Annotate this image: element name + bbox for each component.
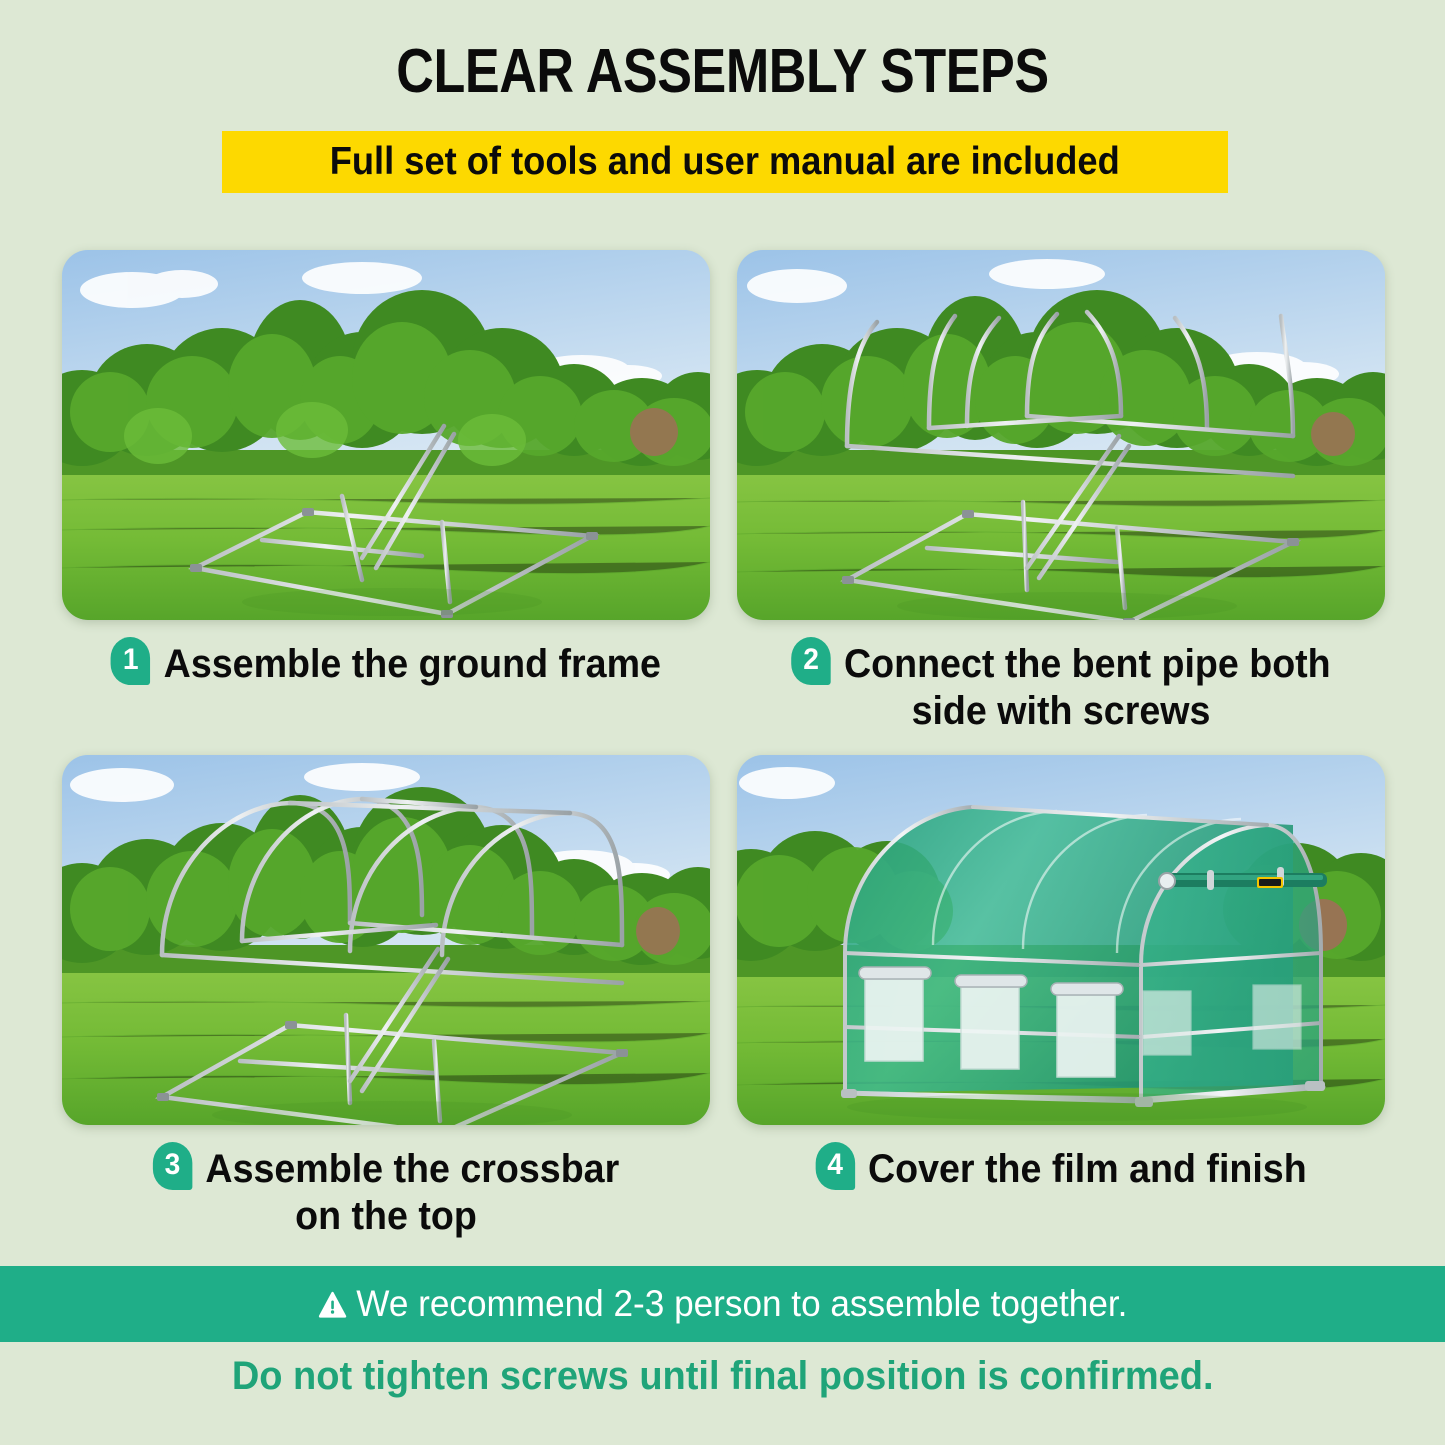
recommendation-text: We recommend 2-3 person to assemble toge… [356, 1283, 1127, 1324]
step-2-label-line1: Connect the bent pipe both [844, 642, 1331, 686]
step-3-label-line2: on the top [81, 1193, 690, 1240]
step-badge-4: 4 [815, 1142, 854, 1190]
subtitle-banner: Full set of tools and user manual are in… [222, 131, 1228, 193]
step-3-caption: 3Assemble the crossbar on the top [62, 1144, 710, 1240]
footer-note: Do not tighten screws until final positi… [0, 1352, 1445, 1400]
vevor-logo-label [1257, 877, 1283, 888]
subtitle-text: Full set of tools and user manual are in… [330, 140, 1120, 184]
footer-note-text: Do not tighten screws until final positi… [232, 1352, 1214, 1400]
step-1-image [62, 250, 710, 620]
step-3-label-line1: Assemble the crossbar [205, 1147, 619, 1191]
step-badge-3: 3 [153, 1142, 192, 1190]
step-2-label-line2: side with screws [756, 688, 1365, 735]
step-badge-1: 1 [111, 637, 150, 685]
step-4-image [737, 755, 1385, 1125]
step-badge-2: 2 [791, 637, 830, 685]
step-2-image [737, 250, 1385, 620]
step-2-caption: 2Connect the bent pipe both side with sc… [737, 639, 1385, 735]
step-3-image [62, 755, 710, 1125]
step-1-label-line1: Assemble the ground frame [164, 642, 661, 686]
step-4-caption: 4Cover the film and finish [737, 1144, 1385, 1193]
step-4-label-line1: Cover the film and finish [868, 1147, 1307, 1191]
page-title: CLEAR ASSEMBLY STEPS [116, 36, 1330, 108]
step-1-caption: 1Assemble the ground frame [62, 639, 710, 688]
infographic-page: CLEAR ASSEMBLY STEPS Full set of tools a… [0, 0, 1445, 1445]
recommendation-bar: We recommend 2-3 person to assemble toge… [0, 1266, 1445, 1342]
warning-triangle-icon [318, 1287, 347, 1317]
